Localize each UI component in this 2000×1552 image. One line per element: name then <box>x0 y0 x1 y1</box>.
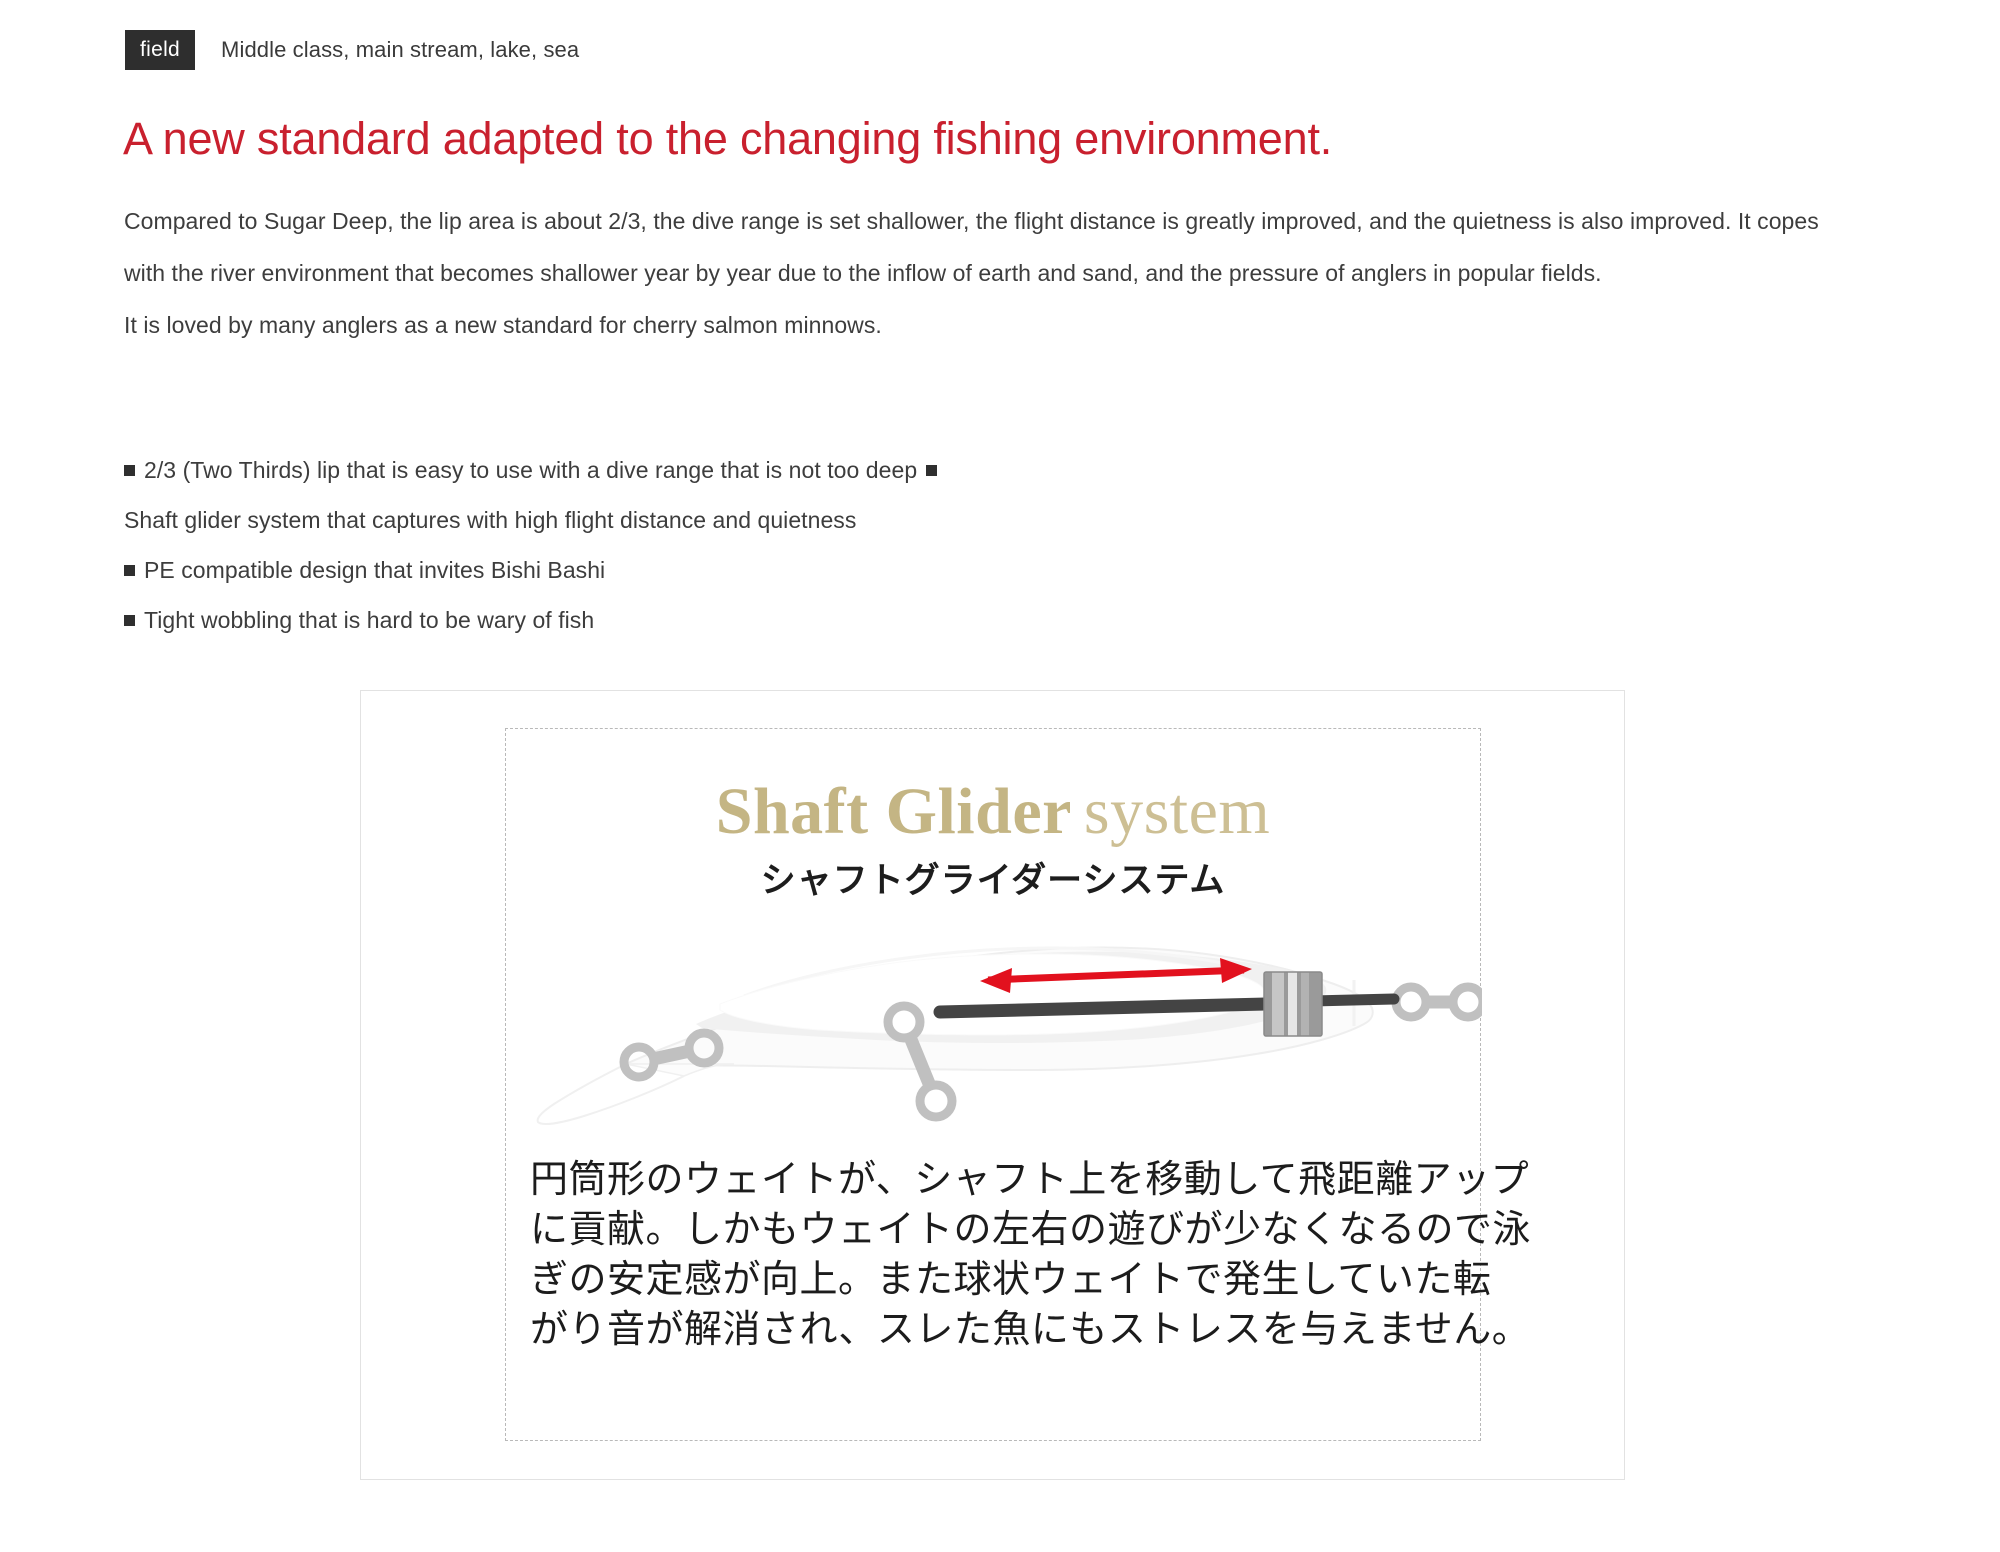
japanese-description: 円筒形のウェイトが、シャフト上を移動して飛距離アップ に貢献。しかもウェイトの左… <box>530 1154 1460 1354</box>
body-paragraph-1: Compared to Sugar Deep, the lip area is … <box>124 195 1844 299</box>
japanese-line-1: 円筒形のウェイトが、シャフト上を移動して飛距離アップ <box>530 1154 1460 1204</box>
square-bullet-icon <box>124 565 135 576</box>
feature-line-2: Shaft glider system that captures with h… <box>124 495 1624 545</box>
lure-diagram <box>506 904 1482 1134</box>
japanese-line-4: がり音が解消され、スレた魚にもストレスを与えません。 <box>530 1304 1460 1354</box>
feature-text-2: Shaft glider system that captures with h… <box>124 507 856 533</box>
feature-line-3: PE compatible design that invites Bishi … <box>124 545 1624 595</box>
feature-text-1: 2/3 (Two Thirds) lip that is easy to use… <box>144 457 917 483</box>
japanese-line-2: に貢献。しかもウェイトの左右の遊びが少なくなるので泳 <box>530 1204 1460 1254</box>
product-description-page: field Middle class, main stream, lake, s… <box>0 0 2000 1552</box>
shaft-glider-panel-inner: Shaft Glidersystem シャフトグライダーシステム <box>505 728 1481 1441</box>
field-row: field Middle class, main stream, lake, s… <box>125 30 579 70</box>
body-copy: Compared to Sugar Deep, the lip area is … <box>124 195 1844 351</box>
square-bullet-icon <box>124 465 135 476</box>
feature-text-3: PE compatible design that invites Bishi … <box>144 557 605 583</box>
field-badge: field <box>125 30 195 70</box>
cylindrical-weight <box>1264 972 1322 1036</box>
shaft-glider-title-bold: Shaft Glider <box>716 775 1072 848</box>
feature-list: 2/3 (Two Thirds) lip that is easy to use… <box>124 445 1624 645</box>
field-value: Middle class, main stream, lake, sea <box>221 37 579 63</box>
lure-diagram-svg <box>506 904 1482 1134</box>
page-title: A new standard adapted to the changing f… <box>123 114 1332 164</box>
hook-hanger-tail <box>1396 987 1482 1017</box>
shaft-glider-subtitle: シャフトグライダーシステム <box>506 852 1480 903</box>
square-bullet-icon <box>926 465 937 476</box>
body-paragraph-2: It is loved by many anglers as a new sta… <box>124 299 1844 351</box>
shaft-glider-title: Shaft Glidersystem <box>506 774 1480 850</box>
shaft-glider-title-light: system <box>1084 775 1270 848</box>
square-bullet-icon <box>124 615 135 626</box>
feature-line-4: Tight wobbling that is hard to be wary o… <box>124 595 1624 645</box>
feature-line-1: 2/3 (Two Thirds) lip that is easy to use… <box>124 445 1624 495</box>
shaft-glider-panel: Shaft Glidersystem シャフトグライダーシステム <box>360 690 1625 1480</box>
japanese-line-3: ぎの安定感が向上。また球状ウェイトで発生していた転 <box>530 1254 1460 1304</box>
feature-text-4: Tight wobbling that is hard to be wary o… <box>144 607 594 633</box>
